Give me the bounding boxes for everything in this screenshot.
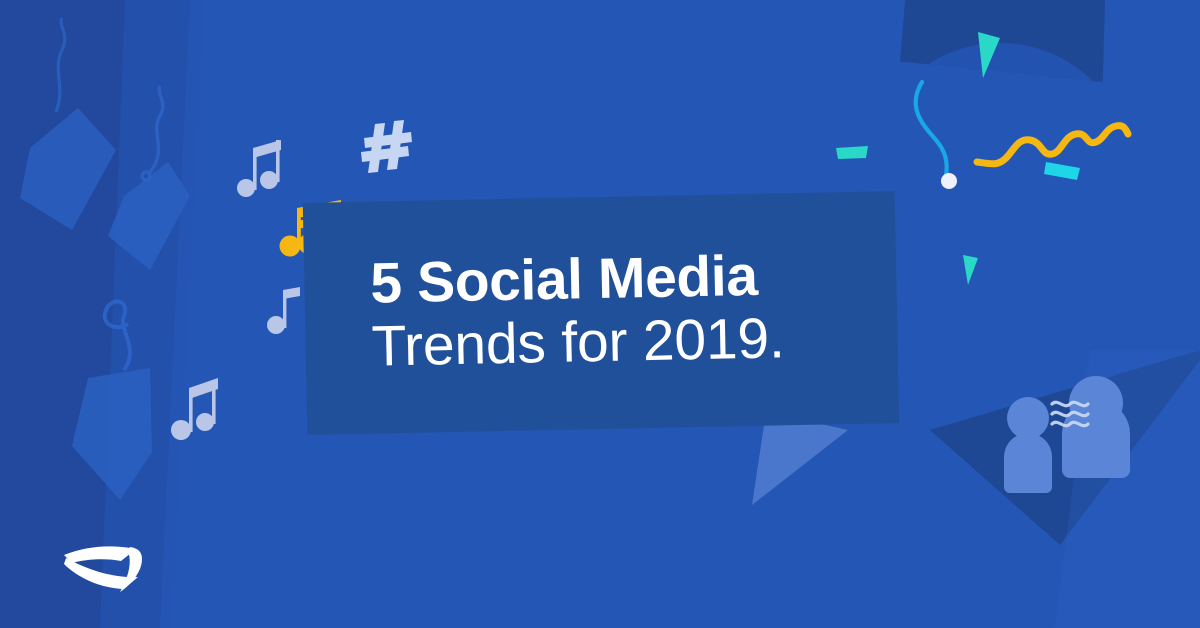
confetti-dash-left [836, 146, 868, 159]
confetti-dot [941, 173, 957, 189]
confetti-backdrop-circle [868, 43, 1132, 307]
social-media-banner: 5 Social Media Trends for 2019. [0, 0, 1200, 628]
headline-line-secondary: Trends for 2019. [371, 303, 898, 381]
headline-line-primary: 5 Social Media [370, 244, 897, 314]
person-body-small [1004, 433, 1052, 493]
headline-text-block: 5 Social Media Trends for 2019. [303, 191, 900, 435]
person-head-small [1007, 397, 1049, 439]
